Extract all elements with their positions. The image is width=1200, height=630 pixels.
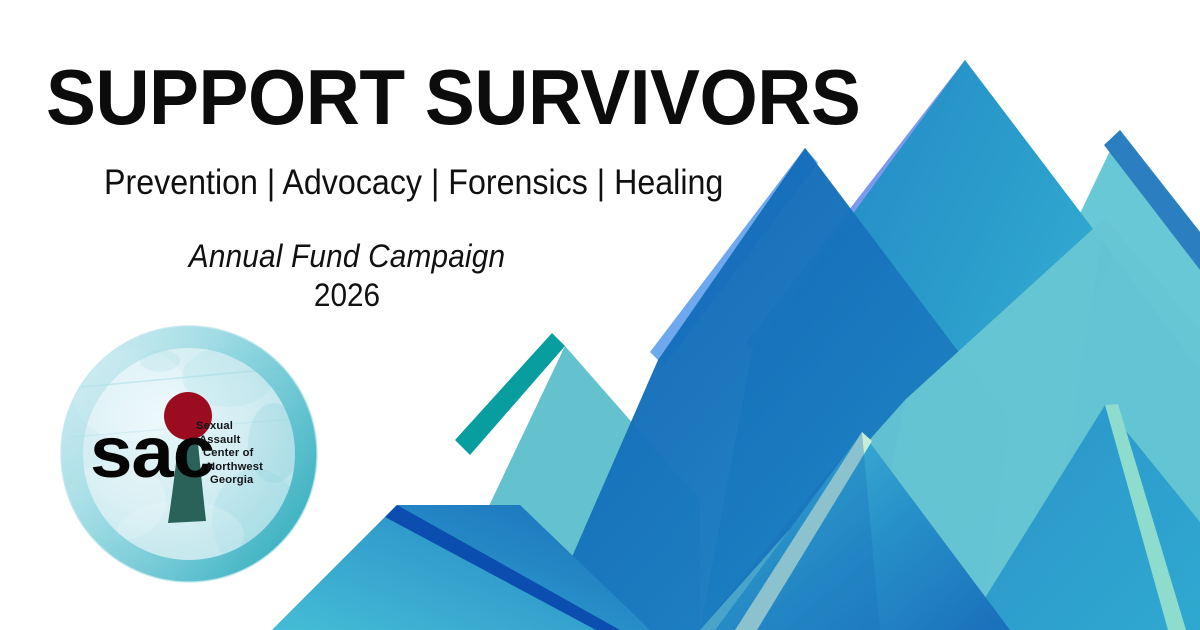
peak-foreground-mint xyxy=(715,432,1010,630)
peak-small-blue-edge xyxy=(385,505,620,630)
teal-overlay-right xyxy=(700,218,1200,630)
mountain-layer-back xyxy=(430,130,1200,630)
teal-overlay-left xyxy=(860,218,1105,630)
peak-tall-center xyxy=(700,60,1200,630)
peak-right-teal-edge xyxy=(1104,130,1200,270)
base-shadow-center xyxy=(700,432,880,630)
campaign-block: Annual Fund Campaign 2026 xyxy=(132,238,562,315)
peak-right-teal xyxy=(880,130,1200,630)
mountain-layer-front xyxy=(272,404,1200,630)
peak-small-blue xyxy=(272,505,650,630)
services-subheadline: Prevention | Advocacy | Forensics | Heal… xyxy=(104,164,723,203)
peak-foreground-mint-edge xyxy=(735,432,872,630)
logo-org-line-4: Northwest xyxy=(196,461,316,475)
banner-canvas: SUPPORT SURVIVORS Prevention | Advocacy … xyxy=(0,0,1200,630)
logo-org-name: Sexual Assault Center of Northwest Georg… xyxy=(196,420,316,488)
peak-left-blue xyxy=(540,148,1010,630)
peak-foreground-right xyxy=(965,405,1200,630)
peak-small-teal-edge xyxy=(455,333,565,455)
peak-small-teal xyxy=(430,346,700,630)
logo-org-line-3: Center of xyxy=(196,447,316,461)
organization-logo: sac Sexual Assault Center of Northwest G… xyxy=(60,325,318,583)
mountain-layer-tealwash xyxy=(700,218,1200,630)
page-title: SUPPORT SURVIVORS xyxy=(46,58,860,136)
logo-org-line-1: Sexual xyxy=(196,420,316,434)
peak-small-blue-body xyxy=(272,505,610,630)
campaign-title: Annual Fund Campaign xyxy=(147,238,547,276)
peak-foreground-right-edge xyxy=(1105,404,1186,630)
mountain-layer-mid xyxy=(540,60,1200,630)
logo-org-line-5: Georgia xyxy=(196,474,316,488)
logo-org-line-2: Assault xyxy=(196,434,316,448)
campaign-year: 2026 xyxy=(147,276,547,315)
